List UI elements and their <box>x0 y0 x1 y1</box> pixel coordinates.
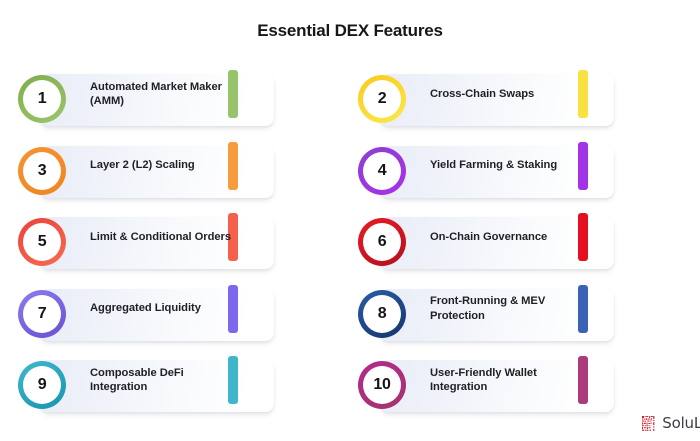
badge-number: 7 <box>38 305 47 323</box>
feature-label: Front-Running & MEV Protection <box>430 283 590 335</box>
badge-number: 2 <box>378 90 387 108</box>
number-badge: 8 <box>358 290 406 338</box>
brand-logo: SoluL <box>642 414 700 432</box>
feature-item[interactable]: 5Limit & Conditional Orders <box>0 211 350 283</box>
feature-label: Yield Farming & Staking <box>430 140 590 192</box>
badge-number: 6 <box>378 233 387 251</box>
features-grid: 1Automated Market Maker (AMM)2Cross-Chai… <box>0 68 700 426</box>
page-title: Essential DEX Features <box>0 0 700 42</box>
feature-item[interactable]: 8Front-Running & MEV Protection <box>350 283 700 355</box>
badge-number: 1 <box>38 90 47 108</box>
badge-number: 5 <box>38 233 47 251</box>
feature-item[interactable]: 3Layer 2 (L2) Scaling <box>0 140 350 212</box>
feature-item[interactable]: 1Automated Market Maker (AMM) <box>0 68 350 140</box>
number-badge: 4 <box>358 147 406 195</box>
number-badge: 1 <box>18 75 66 123</box>
number-badge: 3 <box>18 147 66 195</box>
feature-item[interactable]: 7Aggregated Liquidity <box>0 283 350 355</box>
number-badge: 10 <box>358 361 406 409</box>
badge-number: 4 <box>378 162 387 180</box>
feature-label: Automated Market Maker (AMM) <box>90 68 240 120</box>
number-badge: 9 <box>18 361 66 409</box>
badge-number: 8 <box>378 305 387 323</box>
qr-code-icon <box>642 416 657 431</box>
logo-text: SoluL <box>662 414 700 432</box>
badge-number: 9 <box>38 376 47 394</box>
number-badge: 2 <box>358 75 406 123</box>
badge-number: 10 <box>373 376 390 394</box>
feature-label: Limit & Conditional Orders <box>90 211 240 263</box>
number-badge: 6 <box>358 218 406 266</box>
feature-label: On-Chain Governance <box>430 211 590 263</box>
feature-label: User-Friendly Wallet Integration <box>430 354 590 406</box>
feature-item[interactable]: 2Cross-Chain Swaps <box>350 68 700 140</box>
feature-label: Cross-Chain Swaps <box>430 68 590 120</box>
feature-label: Layer 2 (L2) Scaling <box>90 140 240 192</box>
number-badge: 7 <box>18 290 66 338</box>
badge-number: 3 <box>38 162 47 180</box>
feature-label: Composable DeFi Integration <box>90 354 240 406</box>
number-badge: 5 <box>18 218 66 266</box>
feature-item[interactable]: 4Yield Farming & Staking <box>350 140 700 212</box>
feature-item[interactable]: 9Composable DeFi Integration <box>0 354 350 426</box>
feature-label: Aggregated Liquidity <box>90 283 240 335</box>
feature-item[interactable]: 6On-Chain Governance <box>350 211 700 283</box>
